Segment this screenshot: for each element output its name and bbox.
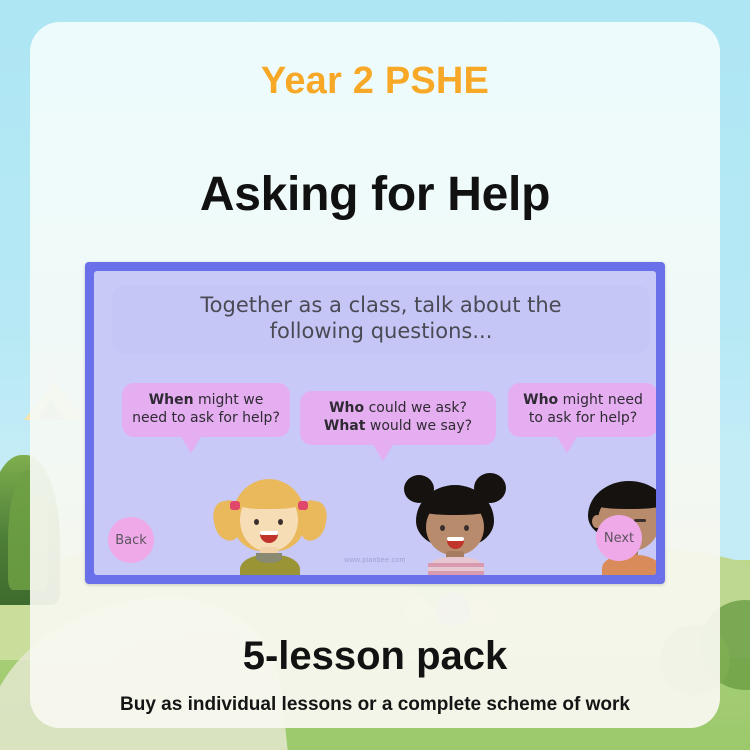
pack-headline: 5-lesson pack xyxy=(30,634,720,679)
speech-bubble-who-what: Who could we ask? What would we say? xyxy=(300,391,496,445)
hair-tie-left xyxy=(230,501,240,510)
bubble-tail xyxy=(556,435,578,453)
eye-right xyxy=(278,519,283,525)
bubble-line-2: What would we say? xyxy=(308,418,488,436)
slide-prompt: Together as a class, talk about the foll… xyxy=(112,285,650,354)
slide-prompt-line1: Together as a class, talk about the xyxy=(118,293,644,319)
content-card: Year 2 PSHE Asking for Help Together as … xyxy=(30,22,720,728)
bubble-line-1: Who could we ask? xyxy=(308,400,488,418)
bubble-who2-keyword: Who xyxy=(523,392,558,408)
page-title: Asking for Help xyxy=(30,167,720,222)
next-button[interactable]: Next xyxy=(596,515,642,561)
bubble-who-text: could we ask? xyxy=(364,400,467,416)
eye-right xyxy=(464,525,469,531)
pack-subline: Buy as individual lessons or a complete … xyxy=(30,694,720,716)
product-preview-image: Year 2 PSHE Asking for Help Together as … xyxy=(0,0,750,750)
shirt-stripe-2 xyxy=(428,571,484,575)
slide-preview[interactable]: Together as a class, talk about the foll… xyxy=(85,262,665,584)
eye-left xyxy=(440,525,445,531)
bubble-tail xyxy=(180,435,202,453)
bubble-what-text: would we say? xyxy=(365,418,472,434)
bubble-who-keyword: Who xyxy=(329,400,364,416)
hair-tie-right xyxy=(298,501,308,510)
bubble-what-keyword: What xyxy=(324,418,366,434)
subject-eyebrow: Year 2 PSHE xyxy=(30,60,720,103)
slide-watermark: www.planbee.com xyxy=(94,557,656,564)
bubble-when-keyword: When xyxy=(149,392,194,408)
eye-left xyxy=(254,519,259,525)
bubble-tail xyxy=(372,443,394,461)
slide-prompt-line2: following questions... xyxy=(118,319,644,345)
speech-bubble-who: Who might need to ask for help? xyxy=(508,383,656,437)
speech-bubble-group: When might we need to ask for help? Who … xyxy=(94,381,656,481)
speech-bubble-when: When might we need to ask for help? xyxy=(122,383,290,437)
slide-panel: Together as a class, talk about the foll… xyxy=(94,271,656,575)
back-button[interactable]: Back xyxy=(108,517,154,563)
